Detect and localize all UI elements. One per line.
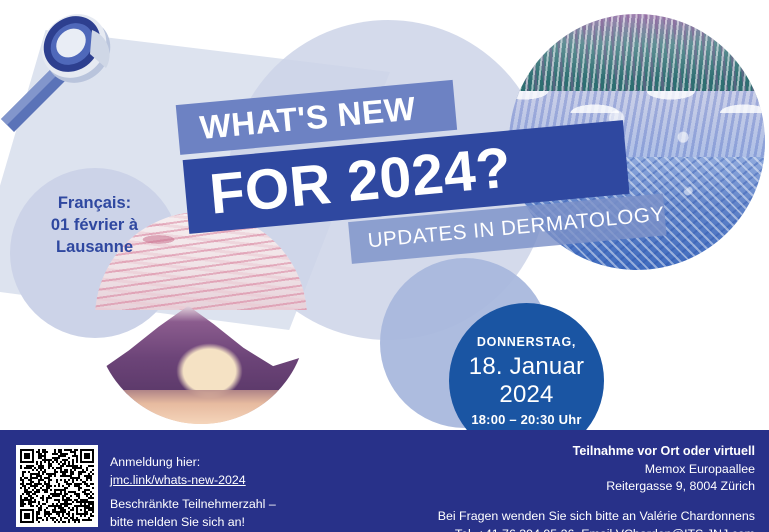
footer-bar: Anmeldung hier: jmc.link/whats-new-2024 … (0, 430, 769, 532)
french-session-badge: Français: 01 février à Lausanne (12, 193, 177, 258)
venue-header: Teilnahme vor Ort oder virtuell (438, 443, 755, 461)
contact-line2: Tel. +41 76 394 95 26, Email VChardon@IT… (438, 526, 755, 532)
contact-line1: Bei Fragen wenden Sie sich bitte an Valé… (438, 508, 755, 526)
footer-registration-block: Anmeldung hier: jmc.link/whats-new-2024 … (110, 454, 276, 531)
event-weekday: DONNERSTAG, (477, 335, 576, 349)
dermatoscope-icon (0, 0, 146, 144)
limited-seats-line2: bitte melden Sie sich an! (110, 514, 276, 532)
event-date: 18. Januar 2024 (449, 353, 604, 409)
venue-address: Reitergasse 9, 8004 Zürich (438, 478, 755, 496)
registration-link[interactable]: jmc.link/whats-new-2024 (110, 472, 276, 490)
event-time: 18:00 – 20:30 Uhr (471, 412, 581, 427)
venue-name: Memox Europaallee (438, 461, 755, 479)
footer-venue-block: Teilnahme vor Ort oder virtuell Memox Eu… (438, 443, 755, 532)
registration-label: Anmeldung hier: (110, 454, 276, 472)
french-badge-line2: 01 février à (12, 215, 177, 237)
french-badge-line1: Français: (12, 193, 177, 215)
poster-canvas: WHAT'S NEW FOR 2024? UPDATES IN DERMATOL… (0, 0, 769, 532)
french-badge-line3: Lausanne (12, 237, 177, 259)
limited-seats-line1: Beschränkte Teilnehmerzahl – (110, 496, 276, 514)
qr-code[interactable] (16, 445, 98, 527)
